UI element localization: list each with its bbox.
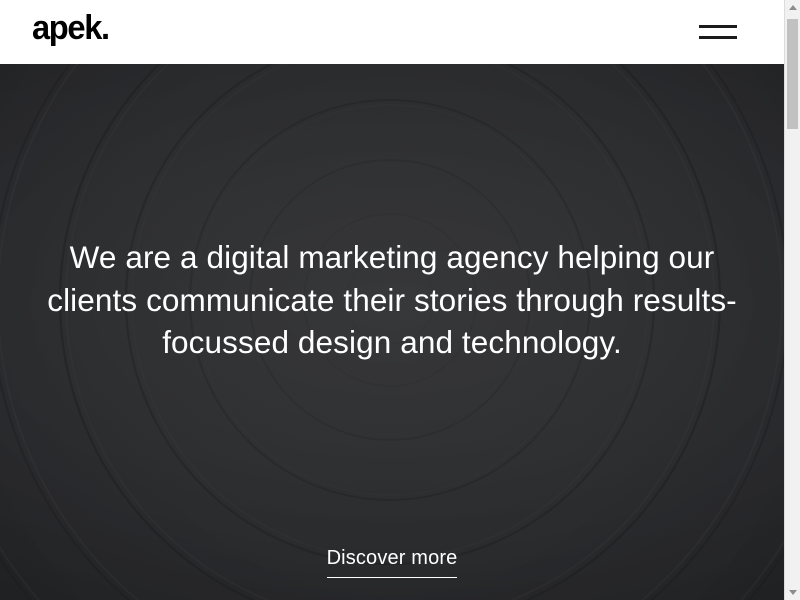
scroll-up-arrow-glyph <box>789 5 797 10</box>
hamburger-bar-bottom <box>699 36 737 39</box>
site-header: apek. <box>0 0 784 64</box>
browser-viewport: apek. <box>0 0 784 600</box>
scrollbar-thumb[interactable] <box>787 19 798 129</box>
hero-headline: We are a digital marketing agency helpin… <box>44 236 740 364</box>
hamburger-bar-top <box>699 25 737 28</box>
discover-more-link[interactable]: Discover more <box>327 545 458 578</box>
scroll-down-arrow-glyph <box>789 590 797 595</box>
hero-cta-wrapper: Discover more <box>0 545 784 578</box>
vertical-scrollbar[interactable] <box>784 0 800 600</box>
scroll-up-arrow-icon[interactable] <box>785 0 800 16</box>
hero-content: We are a digital marketing agency helpin… <box>0 64 784 600</box>
page-root: apek. <box>0 0 800 600</box>
scroll-down-arrow-icon[interactable] <box>785 584 800 600</box>
hero-section: We are a digital marketing agency helpin… <box>0 64 784 600</box>
brand-logo[interactable]: apek. <box>32 8 109 48</box>
hamburger-menu-icon[interactable] <box>698 18 738 46</box>
